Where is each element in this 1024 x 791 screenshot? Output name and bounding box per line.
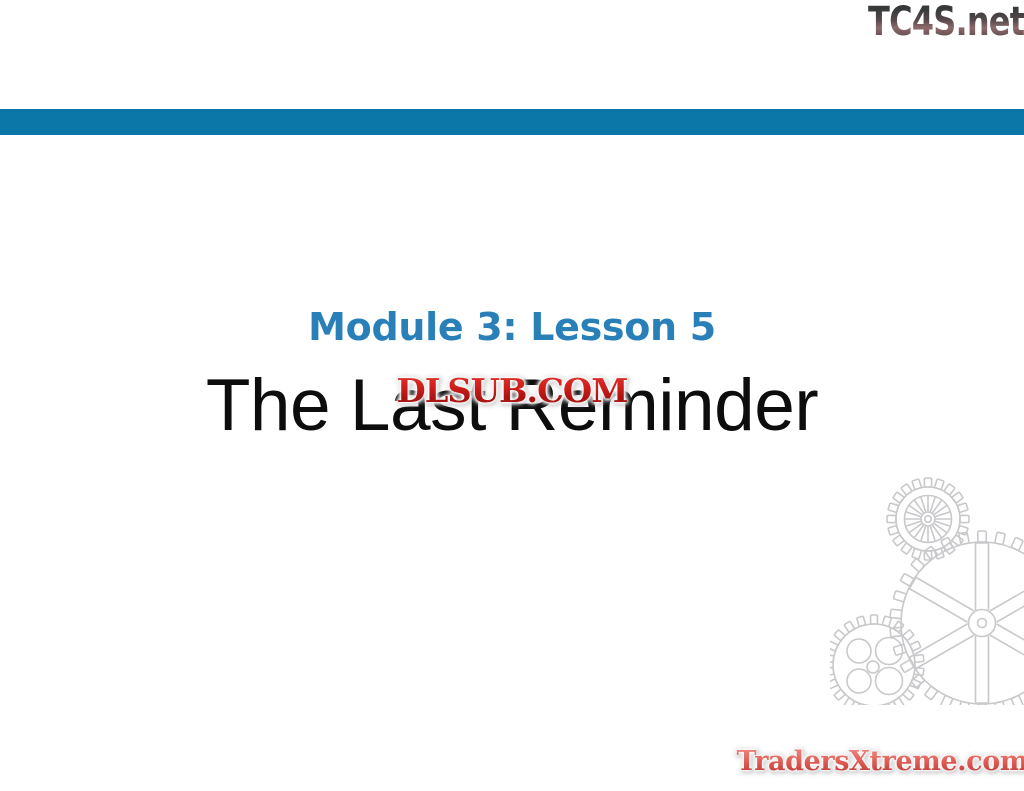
gear-small-bottom xyxy=(830,615,924,705)
presentation-slide: TC4S.net Module 3: Lesson 5 The Last Rem… xyxy=(0,0,1024,791)
slide-subtitle: Module 3: Lesson 5 xyxy=(0,300,1024,354)
tc4s-site-logo: TC4S.net xyxy=(868,0,1024,46)
gear-small-top xyxy=(887,478,969,560)
gear-large-main xyxy=(890,531,1024,705)
dlsub-watermark: DLSUB.COM xyxy=(397,372,628,410)
header-divider-bar xyxy=(0,109,1024,135)
gears-decoration-icon xyxy=(830,475,1024,705)
tradersxtreme-brand-logo: TradersXtreme.com xyxy=(736,745,1024,779)
